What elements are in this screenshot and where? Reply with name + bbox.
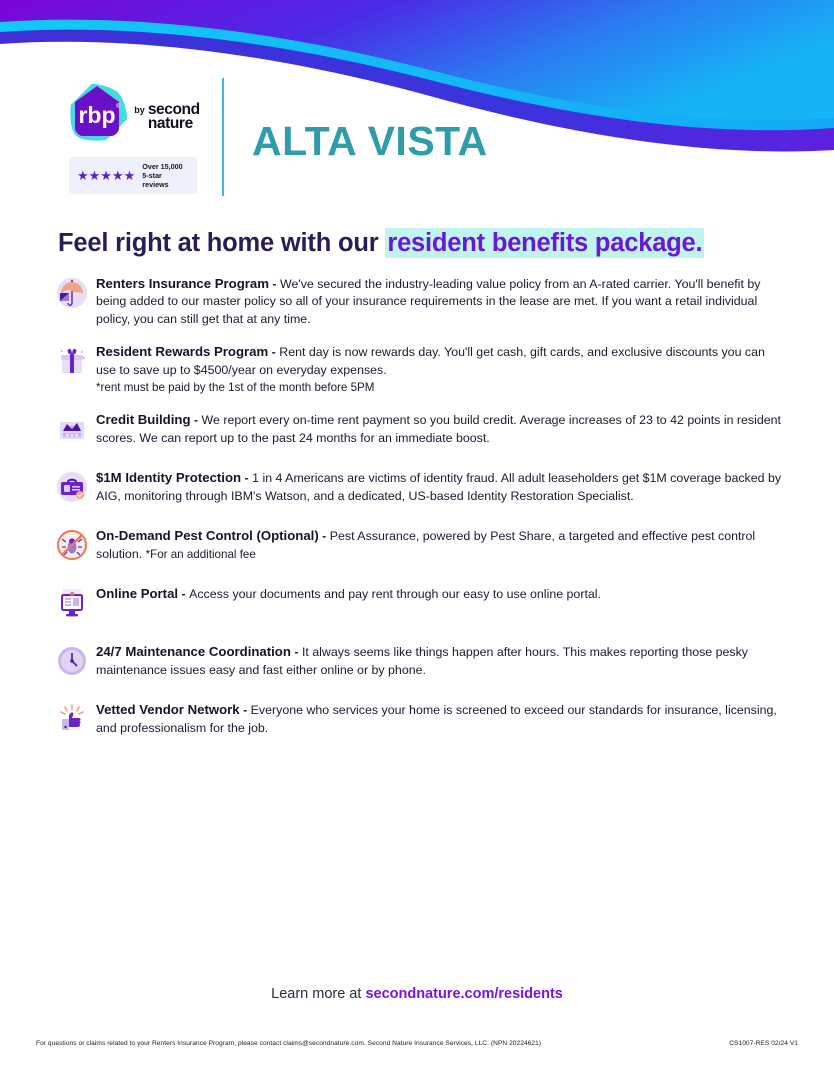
online-portal-monitor-icon bbox=[48, 584, 96, 628]
star-rating-icon: ★★★★★ bbox=[77, 169, 135, 182]
benefit-text: 24/7 Maintenance Coordination - It alway… bbox=[96, 642, 788, 679]
benefit-item: Resident Rewards Program - Rent day is n… bbox=[48, 342, 788, 396]
benefit-dash: - bbox=[191, 413, 202, 427]
headline-prefix: Feel right at home with our bbox=[58, 229, 385, 257]
benefit-title: 24/7 Maintenance Coordination bbox=[96, 644, 291, 659]
credit-score-icon: ★★★ bbox=[48, 410, 96, 454]
benefit-item: Vetted Vendor Network - Everyone who ser… bbox=[48, 700, 788, 744]
reviews-badge: ★★★★★ Over 15,000 5-star reviews bbox=[69, 157, 197, 194]
benefit-title: Renters Insurance Program bbox=[96, 276, 269, 291]
benefit-item: 24/7 Maintenance Coordination - It alway… bbox=[48, 642, 788, 686]
benefit-note: *For an additional fee bbox=[146, 548, 256, 561]
page-headline: Feel right at home with our resident ben… bbox=[58, 229, 704, 258]
headline-accent: resident benefits package. bbox=[385, 228, 704, 258]
benefit-note: *rent must be paid by the 1st of the mon… bbox=[96, 381, 374, 394]
benefit-text: $1M Identity Protection - 1 in 4 America… bbox=[96, 468, 788, 505]
learn-more-line: Learn more at secondnature.com/residents bbox=[0, 986, 834, 1002]
brand-logo-block: rbp ® by second nature ★★★★★ Over 15,000… bbox=[58, 82, 208, 194]
legal-fineprint: For questions or claims related to your … bbox=[36, 1040, 541, 1047]
reviews-count: Over 15,000 bbox=[142, 162, 189, 171]
reviews-detail: 5-star reviews bbox=[142, 171, 189, 189]
benefit-dash: - bbox=[269, 277, 280, 291]
benefit-text: On-Demand Pest Control (Optional) - Pest… bbox=[96, 526, 788, 563]
logo-row: rbp ® by second nature bbox=[66, 82, 199, 148]
by-label: by bbox=[134, 103, 145, 115]
benefit-title: On-Demand Pest Control (Optional) bbox=[96, 528, 319, 543]
benefit-title: Credit Building bbox=[96, 412, 191, 427]
benefit-item: ★★★ Credit Building - We report every on… bbox=[48, 410, 788, 454]
benefits-list: Renters Insurance Program - We've secure… bbox=[48, 274, 788, 758]
property-name-title: ALTA VISTA bbox=[252, 120, 488, 162]
benefit-title: Online Portal bbox=[96, 586, 178, 601]
svg-text:®: ® bbox=[116, 103, 121, 110]
document-code: CS1007-RES 02/24 V1 bbox=[729, 1040, 798, 1047]
umbrella-icon bbox=[48, 274, 96, 318]
benefit-item: $1M Identity Protection - 1 in 4 America… bbox=[48, 468, 788, 512]
benefit-dash: - bbox=[319, 529, 330, 543]
benefit-dash: - bbox=[240, 703, 251, 717]
id-badge-lock-icon bbox=[48, 468, 96, 512]
benefit-body: Access your documents and pay rent throu… bbox=[189, 587, 601, 601]
benefit-dash: - bbox=[241, 471, 252, 485]
benefit-dash: - bbox=[268, 345, 279, 359]
no-pest-icon bbox=[48, 526, 96, 570]
clock-icon bbox=[48, 642, 96, 686]
svg-text:rbp: rbp bbox=[79, 102, 116, 128]
benefit-item: Online Portal - Access your documents an… bbox=[48, 584, 788, 628]
header: rbp ® by second nature ★★★★★ Over 15,000… bbox=[58, 82, 778, 200]
benefit-dash: - bbox=[291, 645, 302, 659]
svg-text:★★★: ★★★ bbox=[65, 433, 79, 439]
gift-icon bbox=[48, 342, 96, 386]
learn-more-prefix: Learn more at bbox=[271, 986, 365, 1002]
benefit-dash: - bbox=[178, 587, 189, 601]
benefit-item: Renters Insurance Program - We've secure… bbox=[48, 274, 788, 328]
thumbs-up-icon bbox=[48, 700, 96, 744]
benefit-text: Resident Rewards Program - Rent day is n… bbox=[96, 342, 788, 396]
benefit-text: Online Portal - Access your documents an… bbox=[96, 584, 601, 603]
secondnature-residents-link[interactable]: secondnature.com/residents bbox=[365, 986, 562, 1002]
benefit-title: Vetted Vendor Network bbox=[96, 702, 240, 717]
benefit-text: Renters Insurance Program - We've secure… bbox=[96, 274, 788, 328]
benefit-title: Resident Rewards Program bbox=[96, 344, 268, 359]
header-divider bbox=[222, 78, 224, 196]
by-second-nature-wordmark: by second nature bbox=[134, 99, 199, 132]
benefit-text: Vetted Vendor Network - Everyone who ser… bbox=[96, 700, 788, 737]
rbp-logo-icon: rbp ® bbox=[66, 82, 128, 148]
benefit-title: $1M Identity Protection bbox=[96, 470, 241, 485]
benefit-item: On-Demand Pest Control (Optional) - Pest… bbox=[48, 526, 788, 570]
brand-line-2: nature bbox=[148, 117, 200, 132]
benefit-text: Credit Building - We report every on-tim… bbox=[96, 410, 788, 447]
